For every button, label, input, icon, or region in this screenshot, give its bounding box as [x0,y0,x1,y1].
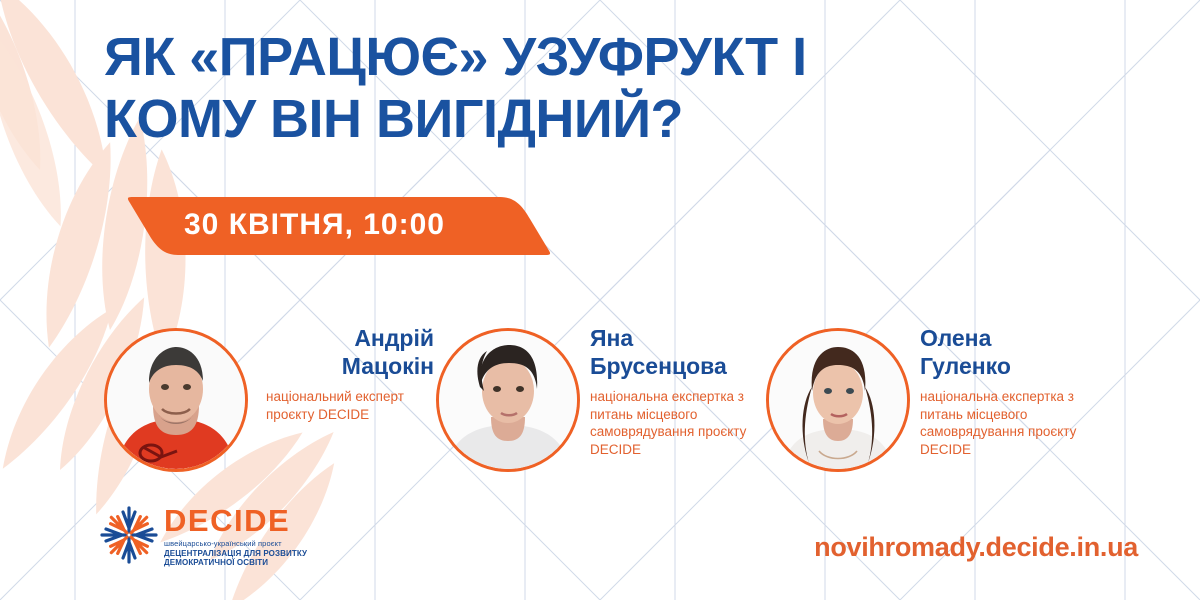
page-title: ЯК «ПРАЦЮЄ» УЗУФРУКТ І КОМУ ВІН ВИГІДНИЙ… [104,26,1064,150]
speaker-role-1: національний експерт проєкту DECIDE [258,388,436,423]
webinar-announcement-poster: ЯК «ПРАЦЮЄ» УЗУФРУКТ І КОМУ ВІН ВИГІДНИЙ… [0,0,1200,600]
speakers-row: Андрій Мацокін національний експерт проє… [104,322,1104,497]
speaker-photo-2 [439,331,577,469]
logo-wordmark: DECIDE [164,505,307,536]
speaker-lastname-3: Гуленко [920,352,1102,380]
speaker-name-3: Олена Гуленко [920,324,1102,380]
speaker-role-2: національна експертка з питань місцевого… [590,388,766,458]
date-time-text: 30 КВІТНЯ, 10:00 [184,197,445,255]
avatar [104,328,248,472]
logo-tagline-1: швейцарсько-український проєкт [164,539,307,549]
decide-logo: DECIDE швейцарсько-український проєкт ДЕ… [100,500,350,570]
logo-tagline-2: ДЕЦЕНТРАЛІЗАЦІЯ ДЛЯ РОЗВИТКУ [164,549,307,559]
speaker-text-1: Андрій Мацокін національний експерт проє… [248,322,436,423]
avatar [436,328,580,472]
title-line-1: ЯК «ПРАЦЮЄ» УЗУФРУКТ І [104,26,1064,88]
speaker-photo-3 [769,331,907,469]
avatar [766,328,910,472]
title-line-2: КОМУ ВІН ВИГІДНИЙ? [104,88,1064,150]
speaker-photo-1 [107,331,245,469]
logo-text-block: DECIDE швейцарсько-український проєкт ДЕ… [158,503,307,568]
speaker-card-1: Андрій Мацокін національний експерт проє… [104,322,436,497]
speaker-firstname-3: Олена [920,324,1102,352]
speaker-role-3: національна експертка з питань місцевого… [920,388,1102,458]
speaker-lastname-2: Брусенцова [590,352,766,380]
eight-point-star-icon [100,504,158,566]
speaker-lastname-1: Мацокін [258,352,434,380]
speaker-card-2: Яна Брусенцова національна експертка з п… [436,322,766,497]
speaker-text-3: Олена Гуленко національна експертка з пи… [910,322,1102,458]
date-time-banner: 30 КВІТНЯ, 10:00 [104,197,584,255]
speaker-name-2: Яна Брусенцова [590,324,766,380]
speaker-firstname-2: Яна [590,324,766,352]
speaker-name-1: Андрій Мацокін [258,324,436,380]
speaker-card-3: Олена Гуленко національна експертка з пи… [766,322,1102,497]
speaker-text-2: Яна Брусенцова національна експертка з п… [580,322,766,458]
logo-tagline-3: ДЕМОКРАТИЧНОЇ ОСВІТИ [164,558,307,568]
speaker-firstname-1: Андрій [258,324,434,352]
website-url[interactable]: novihromady.decide.in.ua [814,532,1138,563]
